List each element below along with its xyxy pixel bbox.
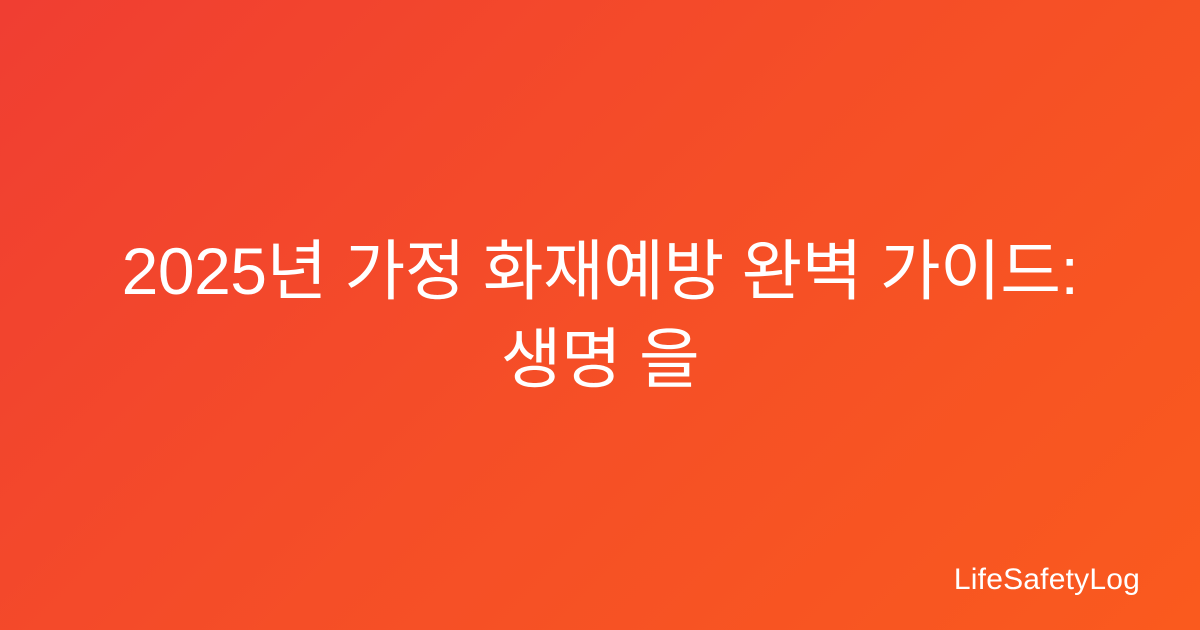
page-title: 2025년 가정 화재예방 완벽 가이드: 생명 을 (0, 227, 1200, 403)
social-share-card: 2025년 가정 화재예방 완벽 가이드: 생명 을 LifeSafetyLog (0, 0, 1200, 630)
site-brand-label: LifeSafetyLog (954, 563, 1140, 597)
